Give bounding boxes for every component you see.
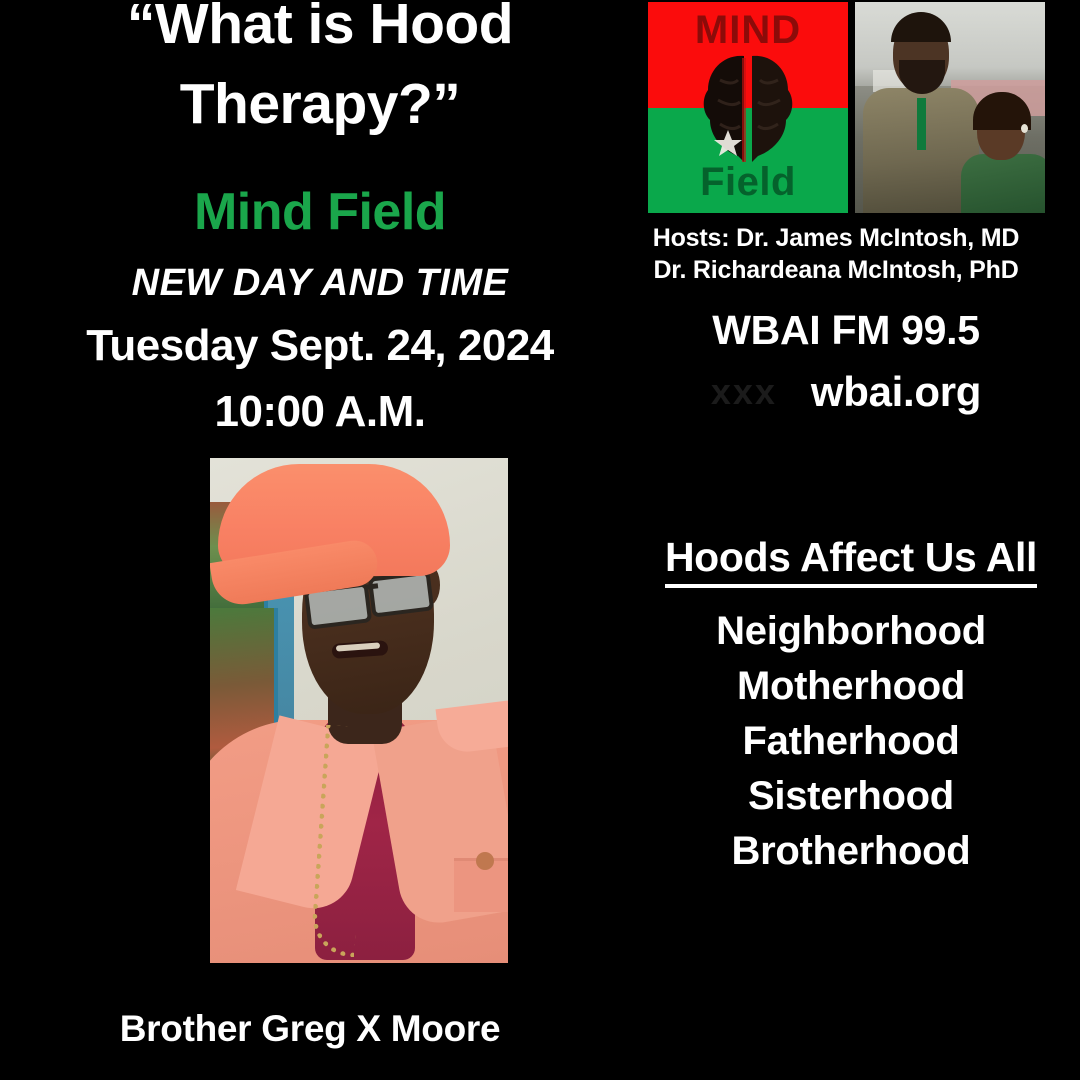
station-callsign: WBAI FM 99.5 xyxy=(644,307,1048,354)
hoods-heading: Hoods Affect Us All xyxy=(626,534,1076,588)
list-item: Sisterhood xyxy=(626,769,1076,824)
hoods-heading-label: Hoods Affect Us All xyxy=(665,534,1037,588)
host-female-earring xyxy=(1021,124,1028,133)
guest-portrait-photo xyxy=(210,458,508,963)
brain-icon xyxy=(694,50,802,166)
media-row: MIND Field xyxy=(648,2,1045,213)
logo-word-mind: MIND xyxy=(648,8,848,53)
hosts-line-2: Dr. Richardeana McIntosh, PhD xyxy=(626,254,1046,286)
guest-caption: Brother Greg X Moore xyxy=(0,1008,620,1050)
broadcast-time: 10:00 A.M. xyxy=(0,390,640,434)
flyer-canvas: “What is Hood Therapy?” Mind Field NEW D… xyxy=(0,0,1080,1080)
schedule-note: NEW DAY AND TIME xyxy=(0,264,640,302)
left-column: “What is Hood Therapy?” Mind Field NEW D… xyxy=(0,0,640,434)
host-male-placket xyxy=(917,98,926,150)
hosts-couple-photo xyxy=(855,2,1045,213)
station-website[interactable]: wbai.org xyxy=(811,368,981,416)
hoods-block: Hoods Affect Us All Neighborhood Motherh… xyxy=(626,534,1076,879)
hosts-line-1: Hosts: Dr. James McIntosh, MD xyxy=(626,222,1046,254)
logo-word-field: Field xyxy=(648,160,848,205)
website-row: xxx wbai.org xyxy=(626,368,1066,416)
list-item: Motherhood xyxy=(626,659,1076,714)
program-name: Mind Field xyxy=(0,186,640,238)
hosts-block: Hosts: Dr. James McIntosh, MD Dr. Richar… xyxy=(626,222,1046,286)
faint-marks: xxx xyxy=(711,371,777,413)
guest-jacket-badge xyxy=(476,852,494,870)
list-item: Brotherhood xyxy=(626,824,1076,879)
host-female-body xyxy=(961,154,1045,213)
list-item: Neighborhood xyxy=(626,604,1076,659)
guest-eyeglass-right xyxy=(368,570,434,617)
episode-title: “What is Hood Therapy?” xyxy=(0,0,640,144)
hoods-list: Neighborhood Motherhood Fatherhood Siste… xyxy=(626,604,1076,879)
broadcast-date: Tuesday Sept. 24, 2024 xyxy=(0,324,640,368)
list-item: Fatherhood xyxy=(626,714,1076,769)
mind-field-logo: MIND Field xyxy=(648,2,848,213)
